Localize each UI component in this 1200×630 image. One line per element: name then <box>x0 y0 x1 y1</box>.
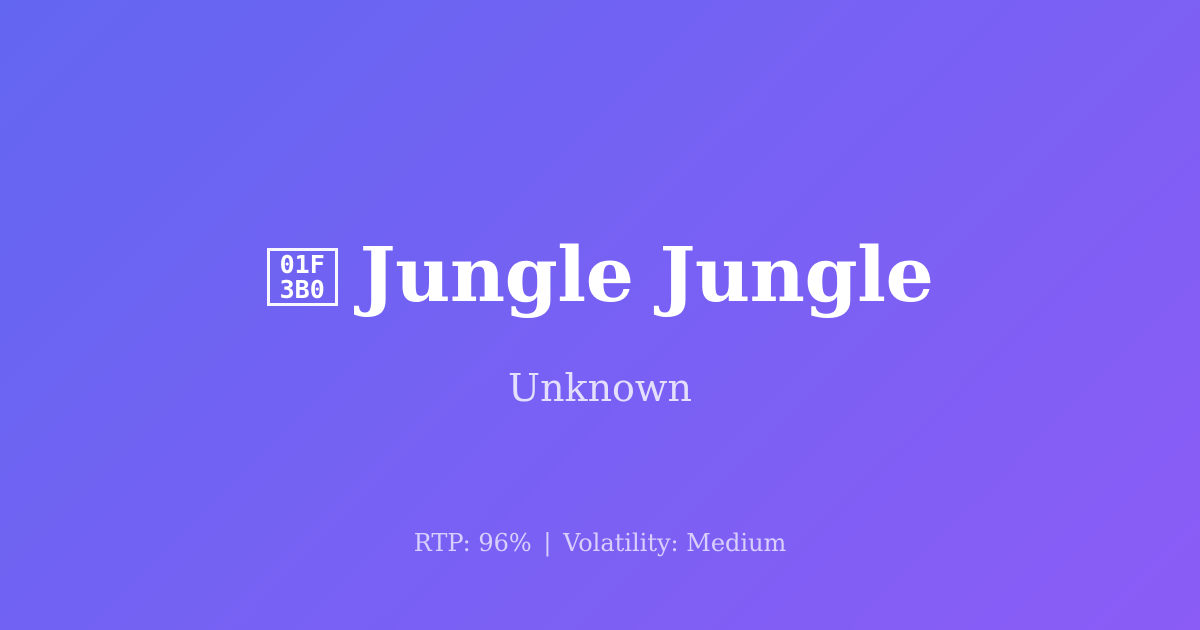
volatility-value: Volatility: Medium <box>563 529 786 557</box>
provider-label: Unknown <box>0 365 1200 411</box>
rtp-value: RTP: 96% <box>414 529 532 557</box>
meta-separator: | <box>539 529 555 557</box>
game-preview-card: 01F 3B0 Jungle Jungle Unknown RTP: 96% |… <box>0 0 1200 630</box>
slot-machine-emoji-codepoint-low: 3B0 <box>280 277 325 302</box>
slot-machine-emoji-icon: 01F 3B0 <box>267 248 338 306</box>
slot-machine-emoji-codepoint-high: 01F <box>280 252 325 277</box>
hero-title-row: 01F 3B0 Jungle Jungle <box>0 232 1200 318</box>
game-meta-line: RTP: 96% | Volatility: Medium <box>0 528 1200 558</box>
page-title: Jungle Jungle <box>360 232 934 318</box>
